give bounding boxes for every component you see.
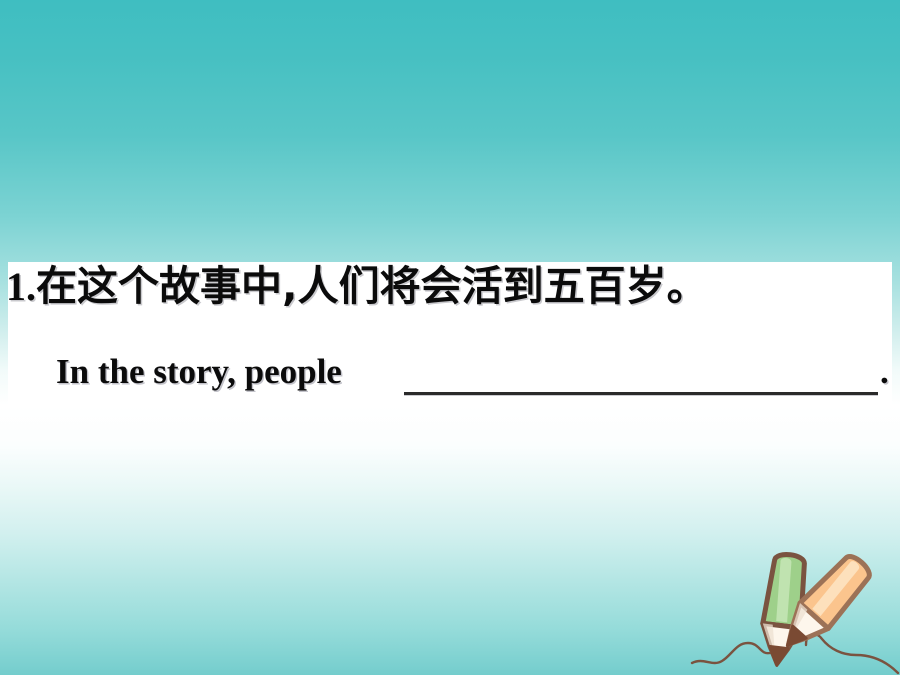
slide-canvas: 1.在这个故事中,人们将会活到五百岁。 In the story, people… xyxy=(0,0,900,675)
scribble-line-right xyxy=(806,634,898,673)
english-prompt: In the story, people xyxy=(56,354,342,391)
english-answer-row: In the story, people . xyxy=(56,354,900,398)
chinese-sentence-line: 1.在这个故事中,人们将会活到五百岁。 xyxy=(6,266,708,307)
end-period: . xyxy=(880,352,889,392)
answer-blank-line[interactable] xyxy=(404,392,878,395)
pencil-illustration xyxy=(690,535,900,675)
question-number: 1. xyxy=(6,264,36,309)
chinese-sentence: 在这个故事中,人们将会活到五百岁。 xyxy=(36,262,708,310)
